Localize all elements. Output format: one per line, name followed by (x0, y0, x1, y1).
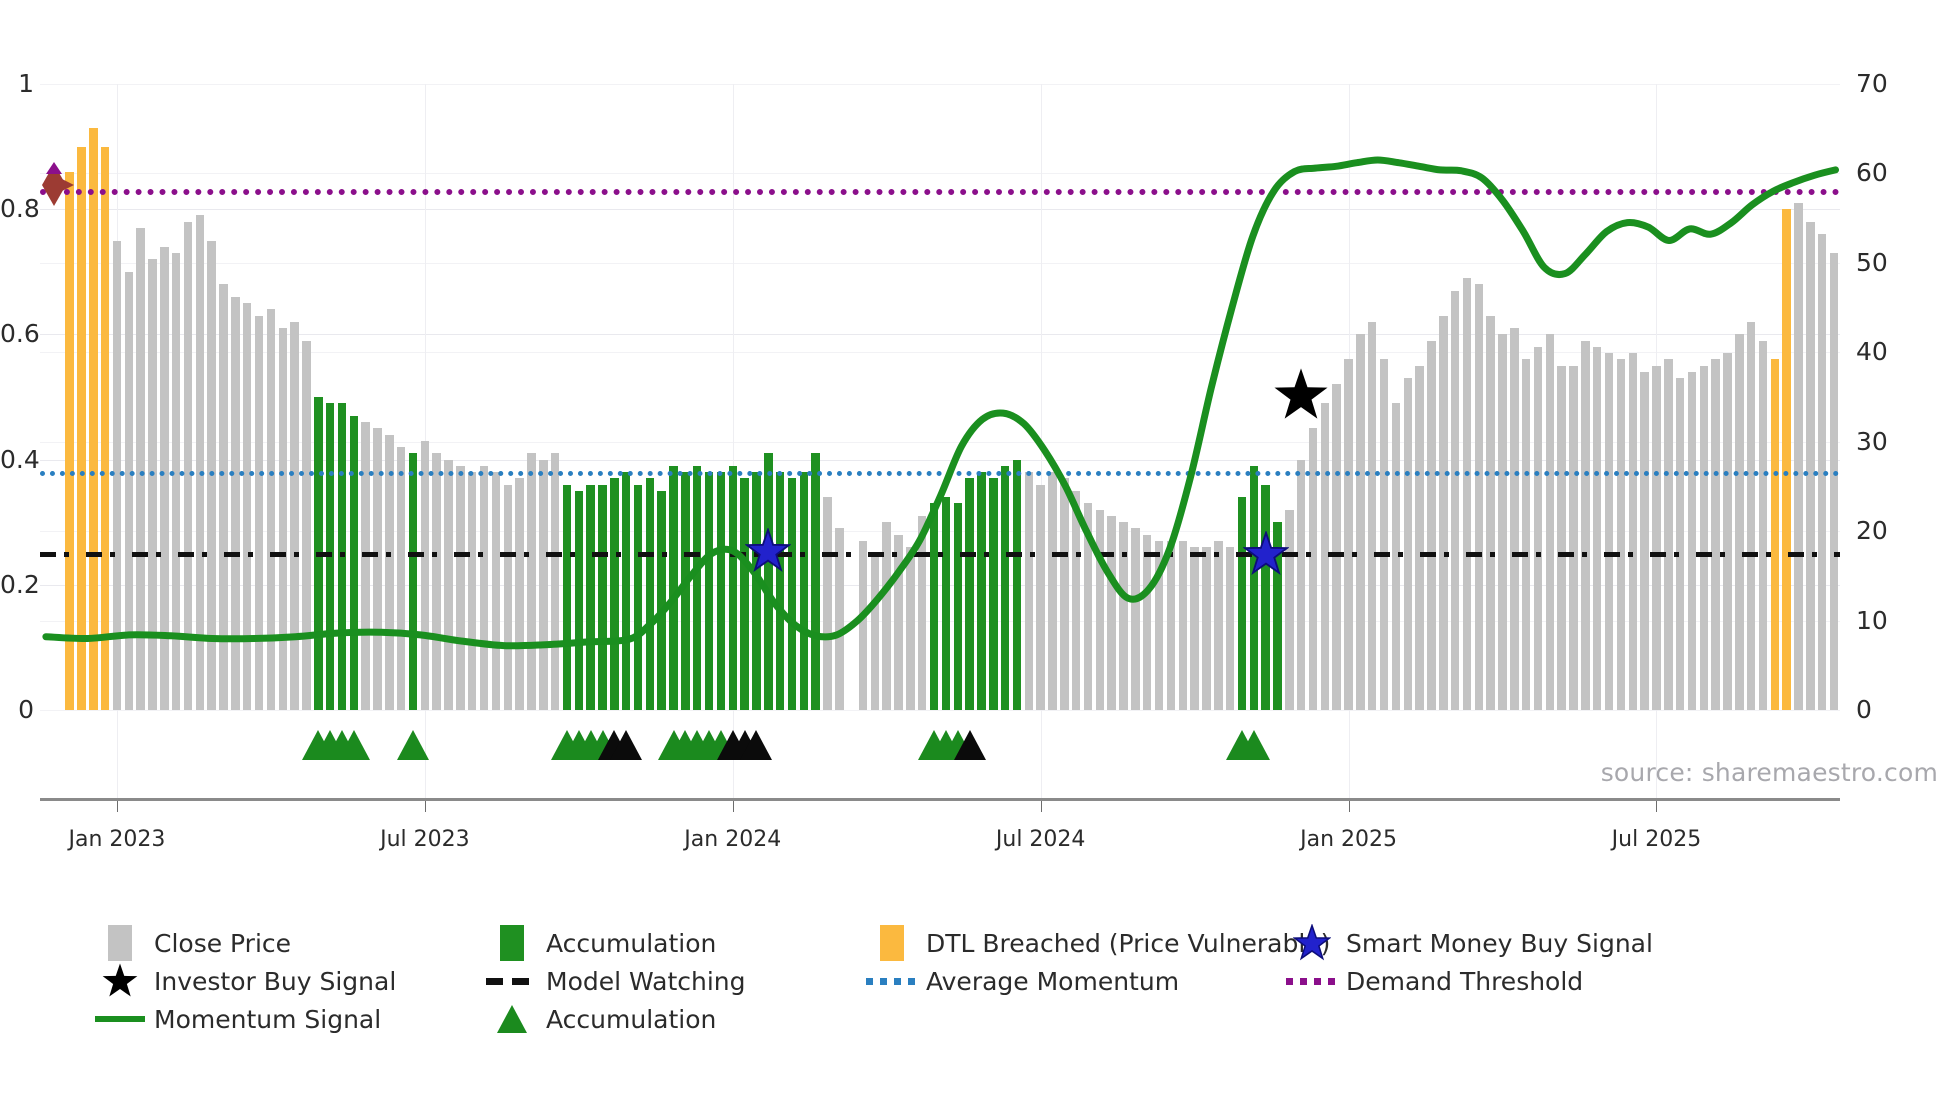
accumulation-triangle-green (338, 730, 370, 760)
y-axis-right-tick-label: 0 (1856, 697, 1902, 722)
y-axis-left-tick-label: 0.6 (0, 321, 34, 346)
x-axis-tick-label: Jul 2025 (1612, 827, 1702, 852)
legend-item-label: Momentum Signal (154, 1005, 381, 1034)
model-watching-icon (484, 962, 540, 1000)
momentum-signal-line (40, 84, 1840, 710)
accumulation-triangle-black (610, 730, 642, 760)
legend-item[interactable]: Average Momentum (864, 962, 1179, 1000)
investor-star-icon (92, 962, 148, 1000)
legend-item[interactable]: Accumulation (484, 1000, 716, 1038)
accumulation-triangle-green (1238, 730, 1270, 760)
y-axis-left-tick-label: 0.2 (0, 572, 34, 597)
legend-item-label: Accumulation (546, 1005, 716, 1034)
legend-item[interactable]: Investor Buy Signal (92, 962, 396, 1000)
x-axis-tick (1349, 801, 1350, 812)
legend-item-label: Model Watching (546, 967, 746, 996)
accumulation-triangle-black (954, 730, 986, 760)
accumulation-bar-icon (484, 924, 540, 962)
legend-item[interactable]: Smart Money Buy Signal (1284, 924, 1653, 962)
legend-row: Close PriceAccumulationDTL Breached (Pri… (92, 924, 1882, 962)
y-axis-left-tick-label: 0 (0, 697, 34, 722)
x-axis-tick-label: Jan 2024 (684, 827, 781, 852)
chart-legend: Close PriceAccumulationDTL Breached (Pri… (92, 924, 1882, 1038)
x-axis-tick-label: Jan 2023 (69, 827, 166, 852)
chart-root: 00.20.40.60.81 010203040506070 Jan 2023J… (0, 0, 1960, 1102)
y-axis-left-tick-label: 0.8 (0, 196, 34, 221)
legend-item-label: DTL Breached (Price Vulnerable) (926, 929, 1330, 958)
accumulation-triangle-black (740, 730, 772, 760)
dtl-breached-icon (864, 924, 920, 962)
x-axis-tick-label: Jul 2023 (380, 827, 470, 852)
gridline-horizontal-right (40, 710, 1840, 711)
y-axis-left-tick-label: 1 (0, 71, 34, 96)
legend-item[interactable]: Momentum Signal (92, 1000, 381, 1038)
investor-buy-star-marker (1272, 366, 1330, 428)
legend-row: Momentum SignalAccumulation (92, 1000, 1882, 1038)
accumulation-triangle-row (40, 726, 1840, 760)
x-axis-tick (1656, 801, 1657, 812)
y-axis-right-tick-label: 70 (1856, 71, 1902, 96)
x-axis-tick (425, 801, 426, 812)
accumulation-triangle-icon (484, 1000, 540, 1038)
y-axis-right-tick-label: 20 (1856, 518, 1902, 543)
x-axis-tick-label: Jul 2024 (996, 827, 1086, 852)
legend-item[interactable]: DTL Breached (Price Vulnerable) (864, 924, 1330, 962)
legend-item-label: Demand Threshold (1346, 967, 1583, 996)
x-axis-tick (733, 801, 734, 812)
close-price-icon (92, 924, 148, 962)
plot-area (40, 84, 1840, 710)
source-attribution: source: sharemaestro.com (1601, 758, 1938, 787)
smart-money-star-icon (1284, 924, 1340, 962)
x-axis-tick (117, 801, 118, 812)
legend-item-label: Close Price (154, 929, 291, 958)
x-axis-tick (1041, 801, 1042, 812)
demand-threshold-origin-marker (42, 162, 78, 212)
smart-money-buy-star-marker (745, 528, 791, 578)
legend-item[interactable]: Model Watching (484, 962, 746, 1000)
smart-money-buy-star-marker (1243, 531, 1289, 581)
legend-item[interactable]: Demand Threshold (1284, 962, 1583, 1000)
y-axis-right-tick-label: 10 (1856, 608, 1902, 633)
y-axis-right-tick-label: 40 (1856, 339, 1902, 364)
legend-item-label: Accumulation (546, 929, 716, 958)
average-momentum-icon (864, 962, 920, 1000)
y-axis-left-tick-label: 0.4 (0, 447, 34, 472)
legend-item-label: Smart Money Buy Signal (1346, 929, 1653, 958)
accumulation-triangle-green (397, 730, 429, 760)
legend-item[interactable]: Close Price (92, 924, 291, 962)
x-axis-line (40, 798, 1840, 801)
legend-item-label: Average Momentum (926, 967, 1179, 996)
y-axis-right-tick-label: 50 (1856, 250, 1902, 275)
demand-threshold-icon (1284, 962, 1340, 1000)
x-axis-tick-label: Jan 2025 (1300, 827, 1397, 852)
legend-item[interactable]: Accumulation (484, 924, 716, 962)
y-axis-right-tick-label: 60 (1856, 160, 1902, 185)
y-axis-right-tick-label: 30 (1856, 429, 1902, 454)
momentum-signal-icon (92, 1000, 148, 1038)
legend-row: Investor Buy SignalModel WatchingAverage… (92, 962, 1882, 1000)
legend-item-label: Investor Buy Signal (154, 967, 396, 996)
